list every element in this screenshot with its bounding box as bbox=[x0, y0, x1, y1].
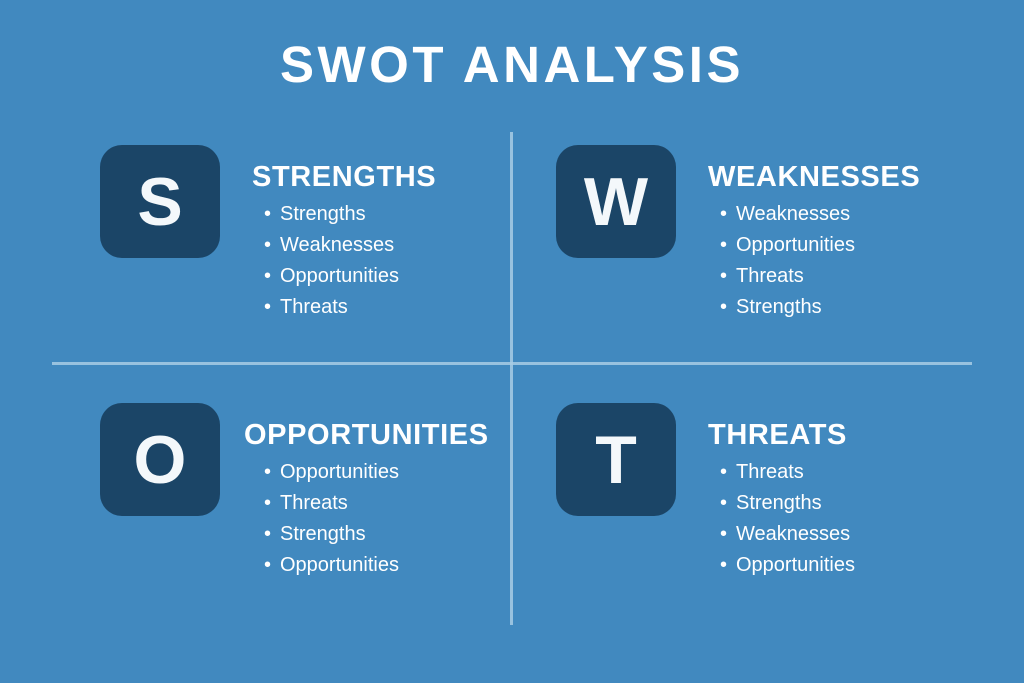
quadrant-body-opportunities: OPPORTUNITIES Opportunities Threats Stre… bbox=[252, 403, 489, 581]
list-item: Threats bbox=[720, 261, 920, 292]
list-item: Weaknesses bbox=[720, 199, 920, 230]
vertical-divider bbox=[510, 132, 513, 625]
list-item: Opportunities bbox=[720, 230, 920, 261]
quadrant-heading-opportunities: OPPORTUNITIES bbox=[244, 419, 489, 451]
bullet-list-opportunities: Opportunities Threats Strengths Opportun… bbox=[252, 457, 489, 581]
letter-badge-o: O bbox=[100, 403, 220, 516]
letter-glyph: W bbox=[584, 168, 648, 236]
horizontal-divider bbox=[52, 362, 972, 365]
list-item: Strengths bbox=[264, 519, 489, 550]
list-item: Threats bbox=[264, 488, 489, 519]
list-item: Opportunities bbox=[264, 550, 489, 581]
quadrant-threats: T THREATS Threats Strengths Weaknesses O… bbox=[556, 403, 855, 581]
quadrant-body-strengths: STRENGTHS Strengths Weaknesses Opportuni… bbox=[252, 145, 436, 323]
list-item: Opportunities bbox=[264, 457, 489, 488]
quadrant-body-weaknesses: WEAKNESSES Weaknesses Opportunities Thre… bbox=[708, 145, 920, 323]
list-item: Weaknesses bbox=[720, 519, 855, 550]
letter-badge-t: T bbox=[556, 403, 676, 516]
quadrant-heading-strengths: STRENGTHS bbox=[252, 161, 436, 193]
quadrant-strengths: S STRENGTHS Strengths Weaknesses Opportu… bbox=[100, 145, 436, 323]
bullet-list-strengths: Strengths Weaknesses Opportunities Threa… bbox=[252, 199, 436, 323]
letter-glyph: O bbox=[134, 426, 187, 494]
list-item: Opportunities bbox=[264, 261, 436, 292]
letter-badge-w: W bbox=[556, 145, 676, 258]
letter-glyph: T bbox=[595, 426, 637, 494]
list-item: Strengths bbox=[720, 292, 920, 323]
page-title: SWOT ANALYSIS bbox=[0, 36, 1024, 94]
list-item: Threats bbox=[720, 457, 855, 488]
list-item: Strengths bbox=[264, 199, 436, 230]
list-item: Opportunities bbox=[720, 550, 855, 581]
quadrant-weaknesses: W WEAKNESSES Weaknesses Opportunities Th… bbox=[556, 145, 920, 323]
swot-diagram: SWOT ANALYSIS S STRENGTHS Strengths Weak… bbox=[0, 0, 1024, 683]
quadrant-heading-threats: THREATS bbox=[708, 419, 855, 451]
quadrant-body-threats: THREATS Threats Strengths Weaknesses Opp… bbox=[708, 403, 855, 581]
letter-badge-s: S bbox=[100, 145, 220, 258]
list-item: Threats bbox=[264, 292, 436, 323]
bullet-list-weaknesses: Weaknesses Opportunities Threats Strengt… bbox=[708, 199, 920, 323]
quadrant-opportunities: O OPPORTUNITIES Opportunities Threats St… bbox=[100, 403, 489, 581]
list-item: Weaknesses bbox=[264, 230, 436, 261]
bullet-list-threats: Threats Strengths Weaknesses Opportuniti… bbox=[708, 457, 855, 581]
letter-glyph: S bbox=[137, 168, 182, 236]
quadrant-heading-weaknesses: WEAKNESSES bbox=[708, 161, 920, 193]
list-item: Strengths bbox=[720, 488, 855, 519]
